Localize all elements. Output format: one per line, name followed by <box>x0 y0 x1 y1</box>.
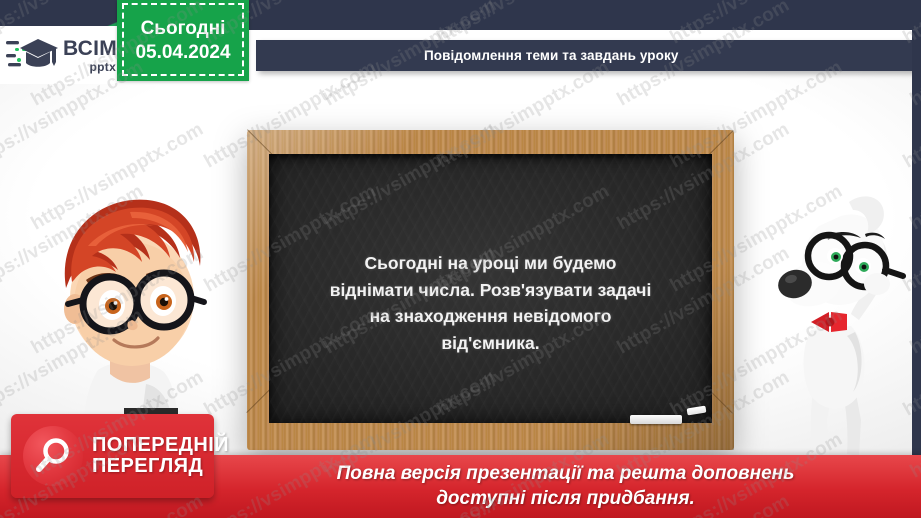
dog-character <box>767 180 917 460</box>
purchase-banner-line-2: доступні після придбання. <box>337 487 795 512</box>
blackboard-line-1: Сьогодні на уроці ми будемо <box>295 250 686 277</box>
logo-subname: pptx <box>90 61 117 73</box>
blackboard-text: Сьогодні на уроці ми будемо віднімати чи… <box>295 250 686 356</box>
date-badge: Сьогодні 05.04.2024 <box>117 0 249 81</box>
graduation-cap-icon <box>6 36 58 74</box>
preview-button-line-1: ПОПЕРЕДНІЙ <box>92 435 229 456</box>
right-navy-edge <box>912 30 921 518</box>
preview-button-line-2: ПЕРЕГЛЯД <box>92 456 229 477</box>
date-badge-label: Сьогодні <box>141 18 226 40</box>
blackboard-line-2: віднімати числа. Розв'язувати задачі <box>295 277 686 304</box>
blackboard-line-3: на знаходження невідомого <box>295 303 686 330</box>
logo-name: ВСІМ <box>63 38 117 59</box>
blackboard-surface: Сьогодні на уроці ми будемо віднімати чи… <box>269 154 712 423</box>
eraser-icon <box>630 415 682 424</box>
blackboard: Сьогодні на уроці ми будемо віднімати чи… <box>247 130 734 450</box>
slide-stage: Сьогодні на уроці ми будемо віднімати чи… <box>0 0 921 518</box>
boy-character <box>28 170 228 432</box>
preview-button[interactable]: ПОПЕРЕДНІЙ ПЕРЕГЛЯД <box>11 414 214 498</box>
header-bar: Повідомлення теми та завдань уроку <box>256 40 921 71</box>
purchase-banner-line-1: Повна версія презентації та решта доповн… <box>337 462 795 487</box>
blackboard-line-4: від'ємника. <box>295 330 686 357</box>
page-title: Повідомлення теми та завдань уроку <box>424 48 678 63</box>
magnifier-icon <box>23 426 83 486</box>
date-badge-date: 05.04.2024 <box>135 42 230 64</box>
